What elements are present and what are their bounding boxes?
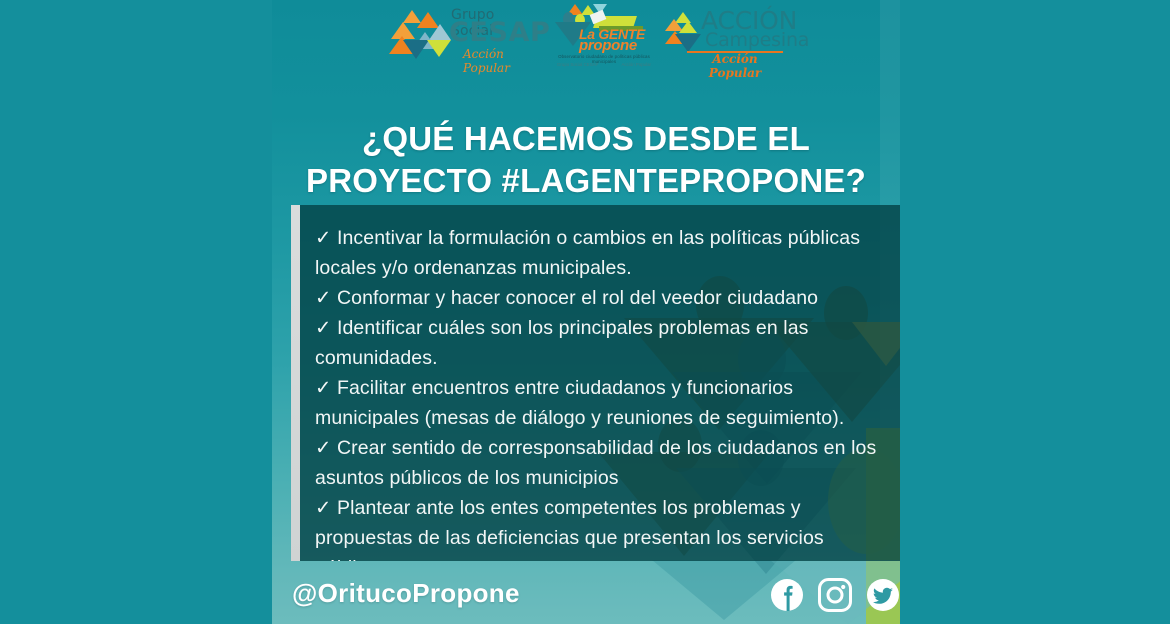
list-item: ✓ Plantear ante los entes competentes lo… — [315, 493, 881, 561]
poster-panel: Grupo Social CESAP Acción Popular La — [272, 0, 900, 624]
gente-credit-right: Acción Popular — [621, 62, 651, 67]
list-item: ✓ Facilitar encuentros entre ciudadanos … — [315, 373, 881, 433]
logo-la-gente-propone: La GENTE propone Observatorio ciudadano … — [551, 4, 651, 70]
gente-credit-left: Grupo Social CESAP — [557, 62, 599, 67]
instagram-icon[interactable] — [818, 578, 852, 612]
list-item: ✓ Conformar y hacer conocer el rol del v… — [315, 283, 881, 313]
logo-accion-campesina: ACCIÓN Campesina Acción Popular — [665, 4, 783, 70]
twitter-icon[interactable] — [866, 578, 900, 612]
social-icons — [770, 578, 900, 612]
accion-triangles-icon — [665, 12, 703, 56]
accion-line2: Campesina — [705, 31, 809, 50]
gente-credits: Grupo Social CESAP Acción Popular — [557, 62, 651, 67]
bullet-list: ✓ Incentivar la formulación o cambios en… — [315, 223, 881, 561]
accion-line3: Acción Popular — [687, 52, 783, 80]
social-handle: @OritucoPropone — [292, 578, 520, 609]
cesap-line2: CESAP — [449, 19, 550, 47]
logo-row: Grupo Social CESAP Acción Popular La — [272, 4, 900, 74]
cesap-line3: Acción Popular — [463, 47, 537, 75]
facebook-icon[interactable] — [770, 578, 804, 612]
page-title: ¿QUÉ HACEMOS DESDE EL PROYECTO #LAGENTEP… — [286, 118, 886, 202]
content-box: ✓ Incentivar la formulación o cambios en… — [291, 205, 900, 561]
title-line-2: PROYECTO #LAGENTEPROPONE? — [286, 160, 886, 202]
list-item: ✓ Crear sentido de corresponsabilidad de… — [315, 433, 881, 493]
list-item: ✓ Identificar cuáles son los principales… — [315, 313, 881, 373]
logo-grupo-social-cesap: Grupo Social CESAP Acción Popular — [389, 4, 537, 70]
gente-line2: propone — [579, 37, 637, 54]
title-line-1: ¿QUÉ HACEMOS DESDE EL — [362, 120, 810, 157]
list-item: ✓ Incentivar la formulación o cambios en… — [315, 223, 881, 283]
poster-stage: Grupo Social CESAP Acción Popular La — [0, 0, 1170, 624]
accent-bar — [291, 205, 300, 561]
cesap-triangles-icon — [389, 10, 451, 62]
